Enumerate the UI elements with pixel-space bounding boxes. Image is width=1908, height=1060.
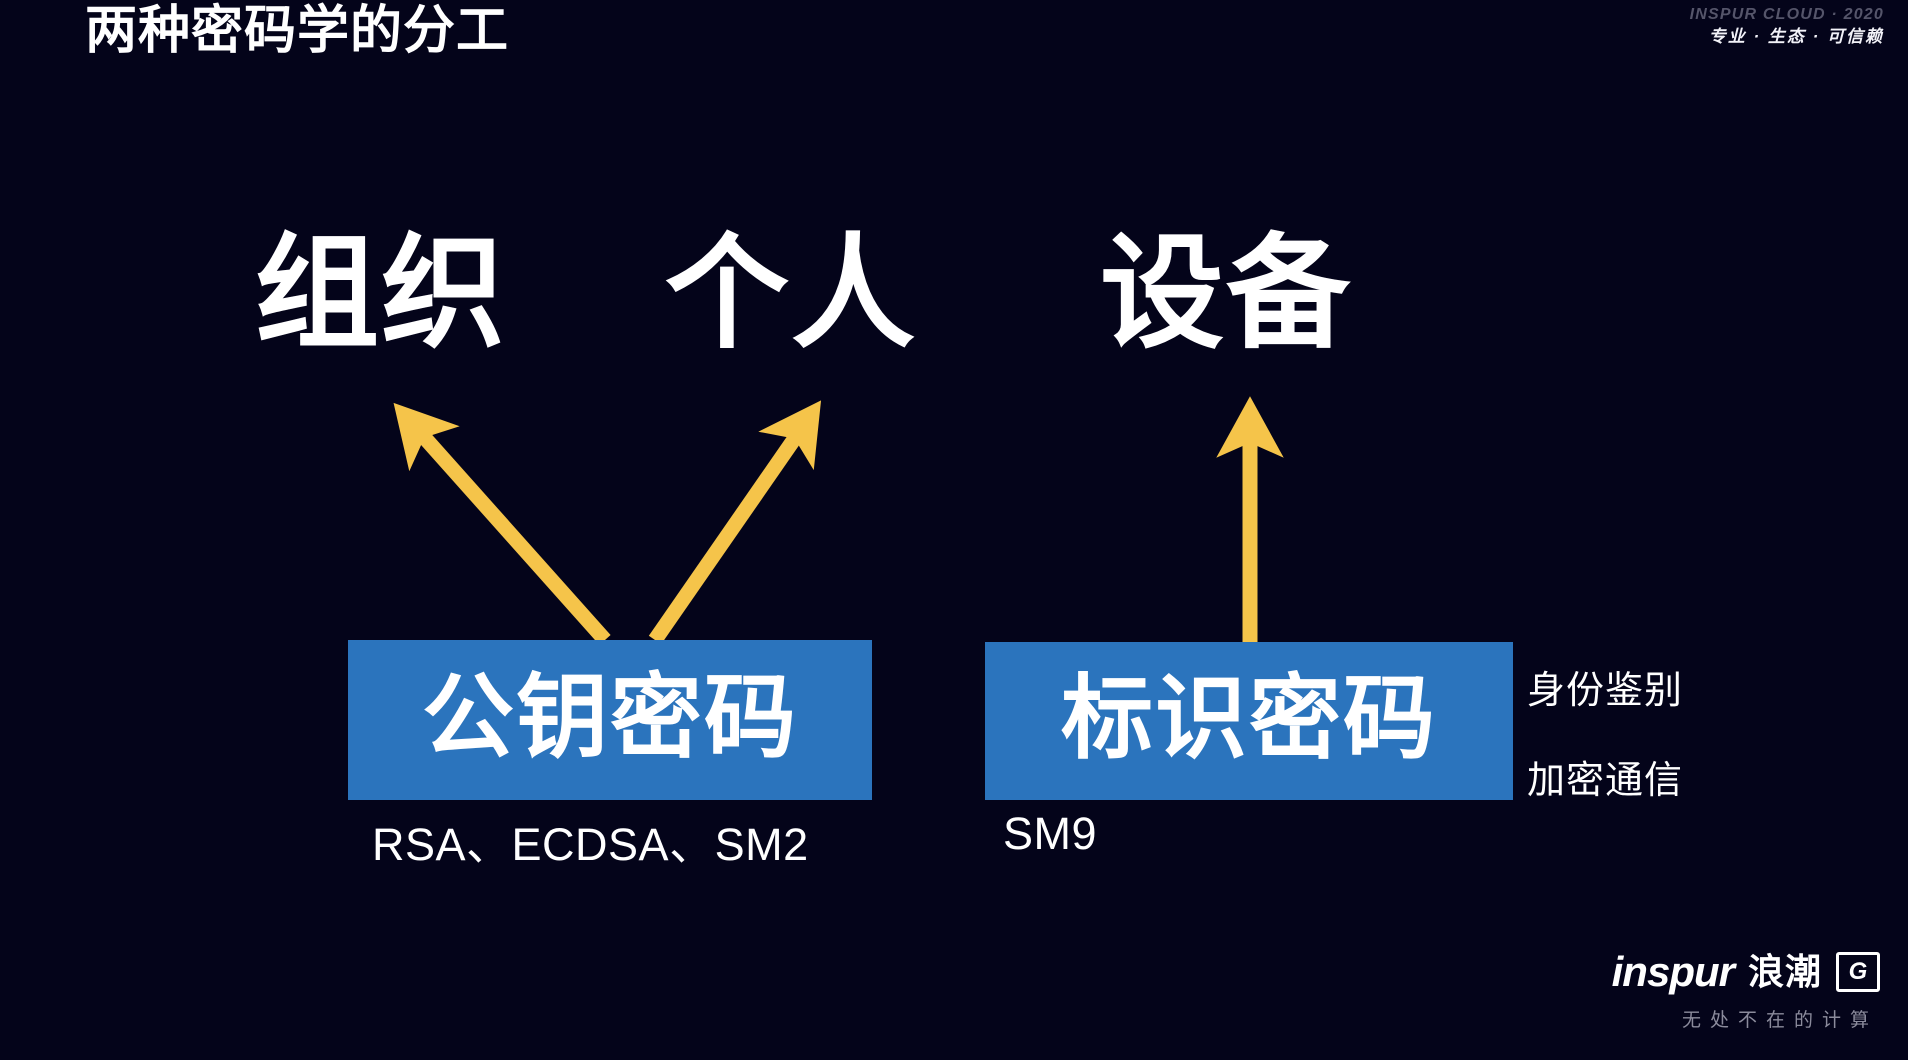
arrow-layer	[0, 0, 1908, 1060]
scheme-box-public-key[interactable]: 公钥密码	[348, 640, 872, 800]
brand-corner-english: INSPUR CLOUD · 2020	[1690, 4, 1884, 26]
logo-english-wordmark: inspur	[1612, 951, 1734, 993]
arrow-public-key-to-organization	[424, 437, 605, 640]
algorithm-caption-public-key: RSA、ECDSA、SM2	[372, 808, 809, 873]
page-title: 两种密码学的分工	[85, 2, 509, 62]
brand-corner: INSPUR CLOUD · 2020 专业 · 生态 · 可信赖	[1690, 4, 1884, 49]
logo-g-mark-icon: G	[1836, 952, 1880, 992]
scheme-box-identity-based-label: 标识密码	[1061, 673, 1437, 765]
entity-label-organization: 组织	[255, 232, 507, 356]
scheme-box-identity-based[interactable]: 标识密码	[985, 642, 1513, 800]
logo-chinese-wordmark: 浪潮	[1748, 954, 1822, 990]
logo-wordmark-row: inspur 浪潮 G	[1612, 951, 1880, 993]
scheme-box-public-key-label: 公钥密码	[422, 672, 798, 764]
slide-canvas: 两种密码学的分工 INSPUR CLOUD · 2020 专业 · 生态 · 可…	[0, 0, 1908, 1060]
use-case-encrypted-communication: 加密通信	[1527, 749, 1683, 804]
brand-corner-chinese: 专业 · 生态 · 可信赖	[1690, 26, 1884, 49]
use-case-identity-authentication: 身份鉴别	[1527, 659, 1683, 714]
company-logo: inspur 浪潮 G 无处不在的计算	[1612, 951, 1880, 1032]
entity-label-device: 设备	[1100, 232, 1352, 356]
logo-tagline: 无处不在的计算	[1612, 1005, 1880, 1032]
arrow-public-key-to-individual	[655, 438, 795, 640]
algorithm-caption-identity-based: SM9	[1003, 808, 1097, 860]
entity-label-individual: 个人	[665, 232, 917, 356]
